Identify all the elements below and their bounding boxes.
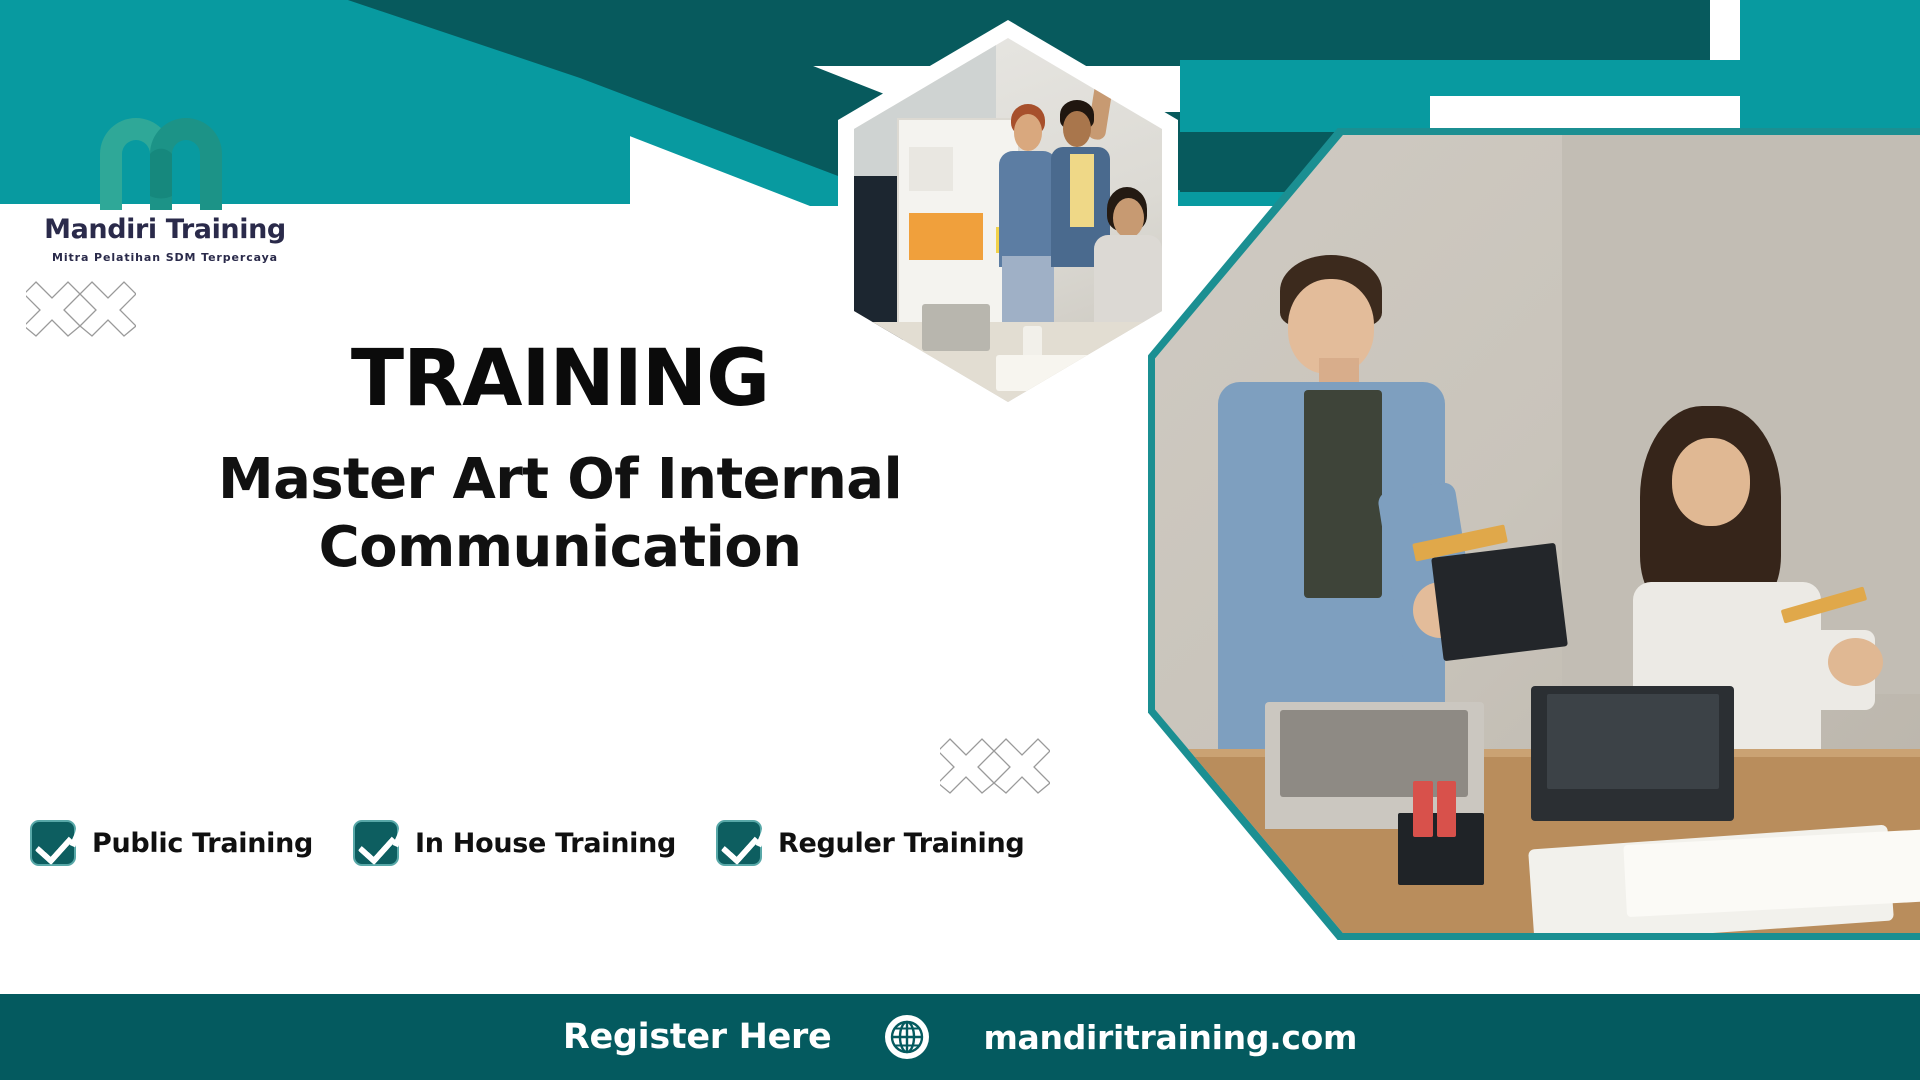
register-here-label[interactable]: Register Here bbox=[563, 1017, 832, 1057]
feature-item-in-house-training[interactable]: In House Training bbox=[353, 820, 676, 866]
headline-title-line1: Master Art Of Internal bbox=[150, 446, 970, 514]
feature-label: In House Training bbox=[415, 828, 676, 859]
check-box-icon[interactable] bbox=[716, 820, 762, 866]
brand-name: Mandiri Training bbox=[40, 214, 290, 245]
headline-eyebrow: TRAINING bbox=[150, 340, 970, 418]
headline-title-line2: Communication bbox=[150, 514, 970, 582]
feature-label: Public Training bbox=[92, 828, 313, 859]
check-box-icon[interactable] bbox=[353, 820, 399, 866]
x-cross-pair-bottom bbox=[940, 735, 1050, 795]
x-cross-icon bbox=[26, 278, 136, 338]
feature-list: Public Training In House Training Regule… bbox=[30, 820, 1024, 866]
headline-block: TRAINING Master Art Of Internal Communic… bbox=[150, 340, 970, 583]
footer-bar: Register Here mandiritraining.com bbox=[0, 994, 1920, 1080]
website-label[interactable]: mandiritraining.com bbox=[983, 1018, 1357, 1057]
brand-logo: Mandiri Training Mitra Pelatihan SDM Ter… bbox=[40, 110, 290, 264]
feature-item-public-training[interactable]: Public Training bbox=[30, 820, 313, 866]
feature-item-reguler-training[interactable]: Reguler Training bbox=[716, 820, 1024, 866]
x-cross-icon bbox=[940, 735, 1050, 795]
hex-photo-large bbox=[1148, 128, 1920, 940]
x-cross-pair-left bbox=[26, 278, 136, 338]
globe-icon bbox=[883, 1013, 931, 1061]
brand-tagline: Mitra Pelatihan SDM Terpercaya bbox=[40, 251, 290, 264]
hex-large-image bbox=[1155, 135, 1920, 933]
headline-title: Master Art Of Internal Communication bbox=[150, 446, 970, 583]
mandiri-double-arch-logo-icon bbox=[90, 110, 240, 210]
feature-label: Reguler Training bbox=[778, 828, 1024, 859]
check-box-icon[interactable] bbox=[30, 820, 76, 866]
poster-canvas: Mandiri Training Mitra Pelatihan SDM Ter… bbox=[0, 0, 1920, 1080]
